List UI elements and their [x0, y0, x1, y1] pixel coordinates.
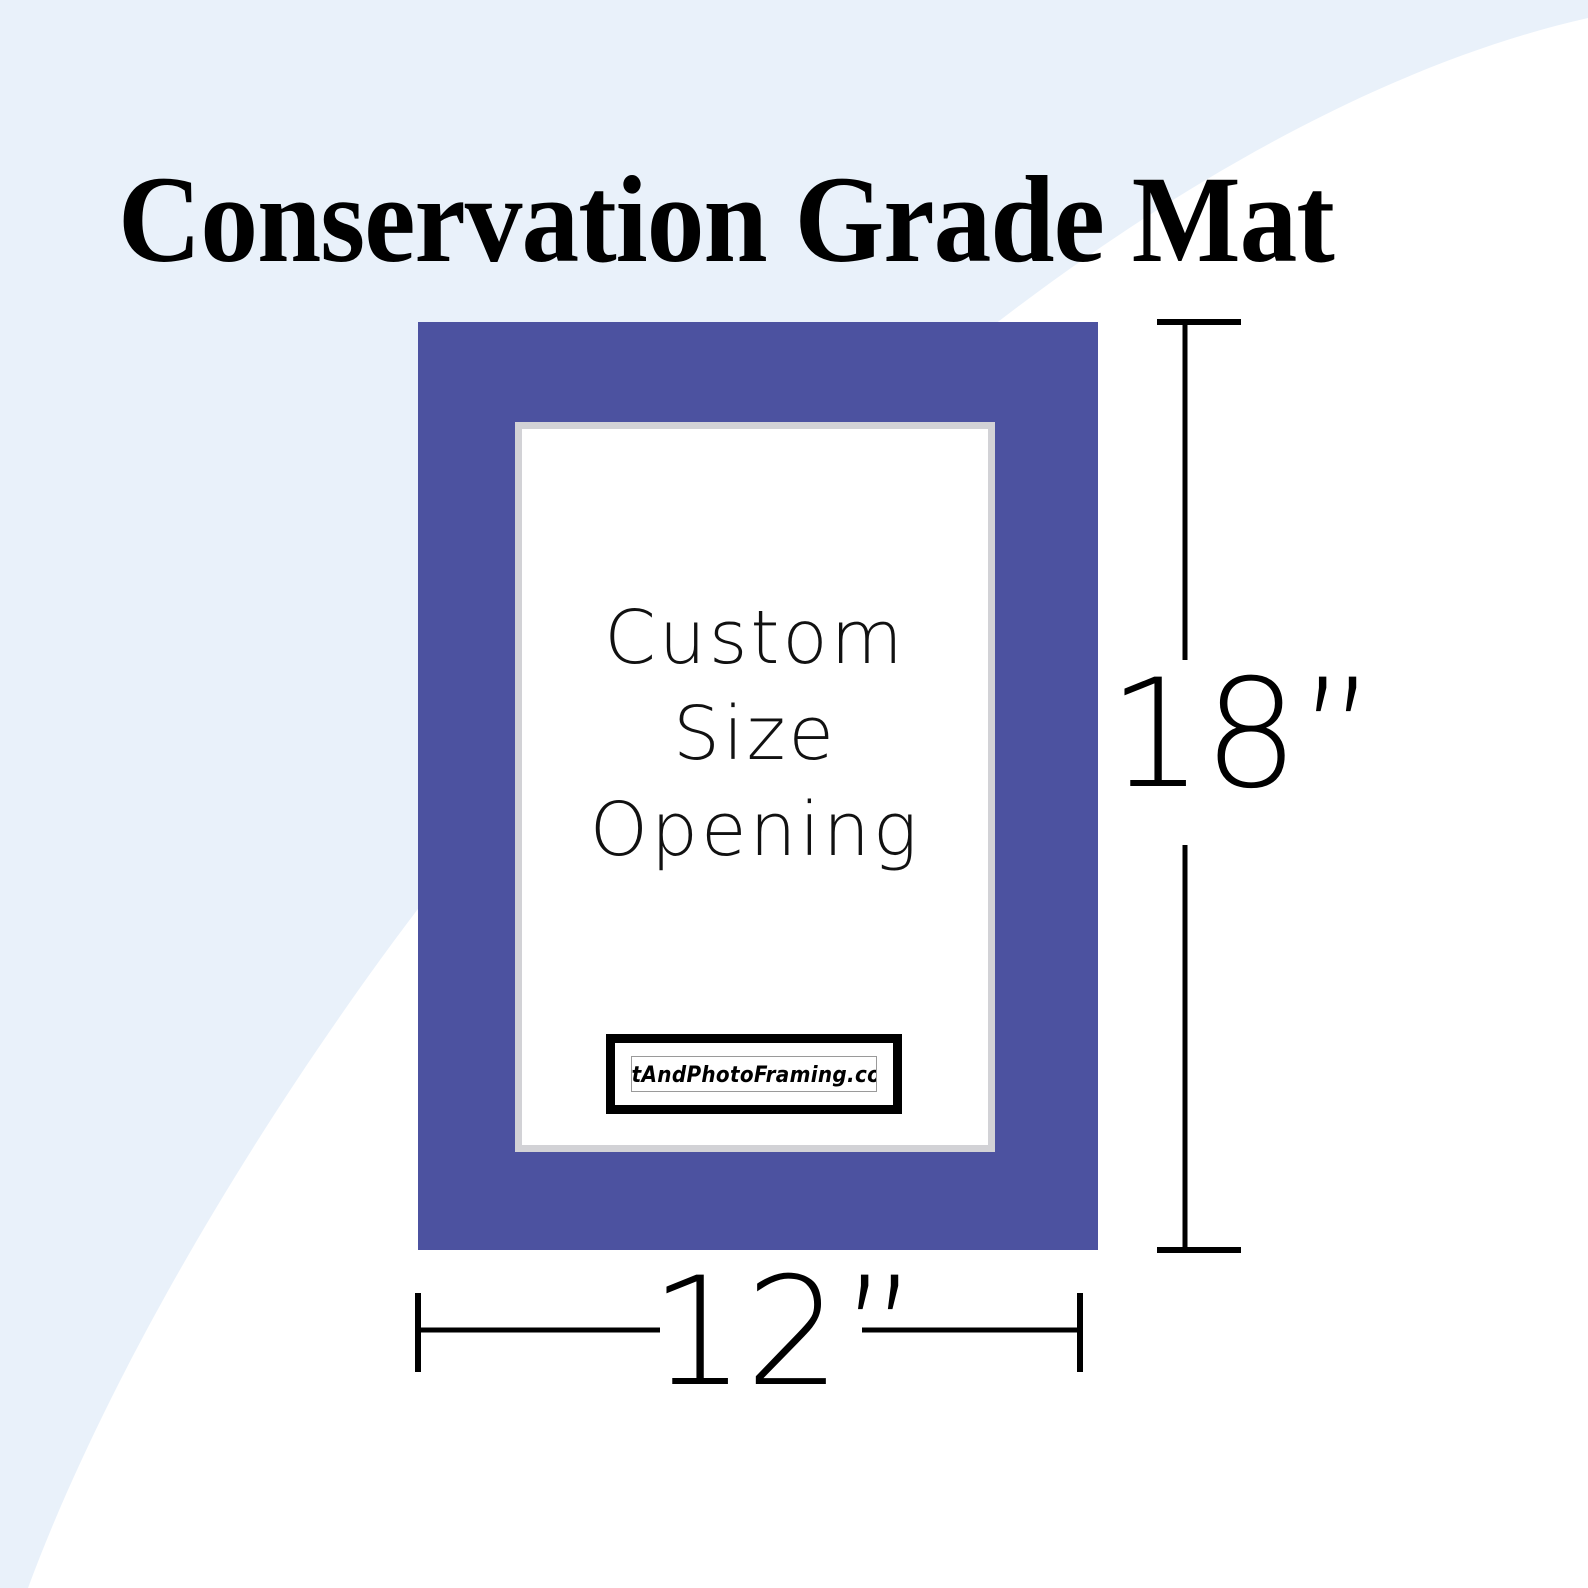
brand-logo-plate: ArtAndPhotoFraming.com: [606, 1034, 902, 1114]
width-label: 12”: [650, 1258, 910, 1408]
height-label: 18”: [1108, 660, 1408, 810]
product-diagram: Conservation Grade Mat Custom Size Openi…: [0, 0, 1588, 1588]
opening-caption-line-3: Opening: [522, 782, 988, 878]
page-title: Conservation Grade Mat: [118, 158, 1383, 282]
opening-caption-line-1: Custom: [522, 590, 988, 686]
brand-logo-inner-border: ArtAndPhotoFraming.com: [631, 1056, 877, 1092]
opening-caption-line-2: Size: [522, 686, 988, 782]
opening-caption: Custom Size Opening: [522, 590, 988, 878]
brand-logo-text: ArtAndPhotoFraming.com: [631, 1061, 877, 1088]
